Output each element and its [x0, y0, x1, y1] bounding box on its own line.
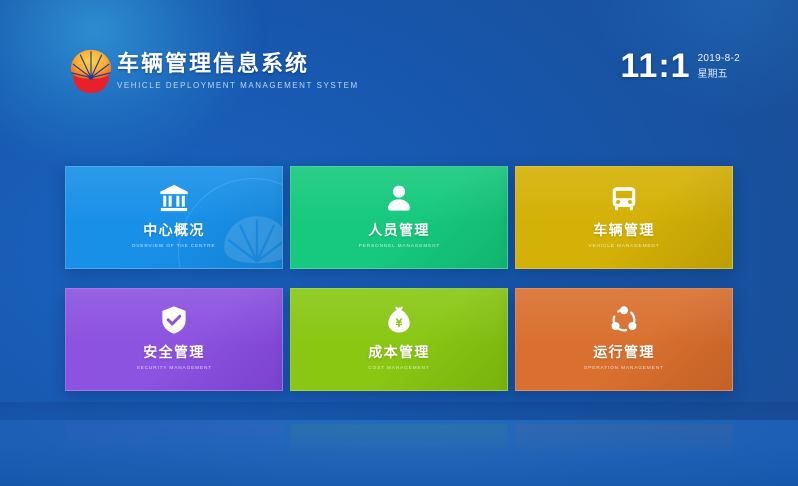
- floor-sheen: [0, 420, 798, 486]
- menu-card-content: 安全管理SECURITY MANAGEMENT: [135, 305, 214, 373]
- bank-icon: [159, 183, 189, 213]
- page-subtitle: VEHICLE DEPLOYMENT MANAGEMENT SYSTEM: [117, 79, 359, 93]
- menu-card-label-cn: 人员管理: [368, 222, 430, 239]
- menu-card-personnel[interactable]: 人员管理PERSONNEL MANAGEMENT: [290, 166, 508, 269]
- brand-text-block: 车辆管理信息系统 VEHICLE DEPLOYMENT MANAGEMENT S…: [117, 50, 359, 93]
- menu-card-label-en: PERSONNEL MANAGEMENT: [358, 242, 439, 251]
- clock-widget: 11:1 2019-8-2 星期五: [620, 48, 740, 84]
- page-title: 车辆管理信息系统: [117, 50, 359, 78]
- share-network-icon: [609, 305, 639, 335]
- menu-card-label-cn: 成本管理: [368, 344, 430, 361]
- menu-card-label-en: COST MANAGEMENT: [368, 364, 429, 373]
- clock-time: 11:1: [620, 48, 690, 84]
- menu-card-label-cn: 运行管理: [593, 344, 655, 361]
- menu-card-label-cn: 安全管理: [143, 344, 205, 361]
- user-icon: [384, 183, 414, 213]
- menu-card-label-en: VEHICLE MANAGEMENT: [589, 242, 660, 251]
- menu-card-content: 车辆管理VEHICLE MANAGEMENT: [587, 183, 661, 251]
- app-background: 车辆管理信息系统 VEHICLE DEPLOYMENT MANAGEMENT S…: [0, 0, 798, 486]
- menu-card-label-en: SECURITY MANAGEMENT: [136, 364, 211, 373]
- menu-card-operation[interactable]: 运行管理OPERATION MANAGEMENT: [515, 288, 733, 391]
- menu-card-label-cn: 中心概况: [143, 222, 205, 239]
- menu-card-grid: 中心概况OVERVIEW OF THE CENTRE人员管理PERSONNEL …: [65, 166, 733, 391]
- clock-date-block: 2019-8-2 星期五: [698, 48, 740, 82]
- menu-card-overview[interactable]: 中心概况OVERVIEW OF THE CENTRE: [65, 166, 283, 269]
- clock-weekday: 星期五: [698, 68, 740, 82]
- menu-card-label-cn: 车辆管理: [593, 222, 655, 239]
- menu-card-cost[interactable]: 成本管理COST MANAGEMENT: [290, 288, 508, 391]
- menu-card-content: 成本管理COST MANAGEMENT: [367, 305, 431, 373]
- menu-card-label-en: OPERATION MANAGEMENT: [584, 364, 664, 373]
- shield-check-icon: [159, 305, 189, 335]
- clock-date: 2019-8-2: [698, 52, 740, 66]
- app-header: 车辆管理信息系统 VEHICLE DEPLOYMENT MANAGEMENT S…: [0, 0, 798, 120]
- petal-watermark-icon: [218, 210, 283, 269]
- petrochina-petal-logo-icon: [67, 47, 115, 95]
- menu-card-content: 运行管理OPERATION MANAGEMENT: [582, 305, 665, 373]
- menu-card-security[interactable]: 安全管理SECURITY MANAGEMENT: [65, 288, 283, 391]
- money-bag-icon: [384, 305, 414, 335]
- bus-icon: [609, 183, 639, 213]
- menu-card-vehicle[interactable]: 车辆管理VEHICLE MANAGEMENT: [515, 166, 733, 269]
- menu-card-label-en: OVERVIEW OF THE CENTRE: [132, 242, 216, 251]
- menu-card-content: 中心概况OVERVIEW OF THE CENTRE: [130, 183, 217, 251]
- menu-card-content: 人员管理PERSONNEL MANAGEMENT: [357, 183, 442, 251]
